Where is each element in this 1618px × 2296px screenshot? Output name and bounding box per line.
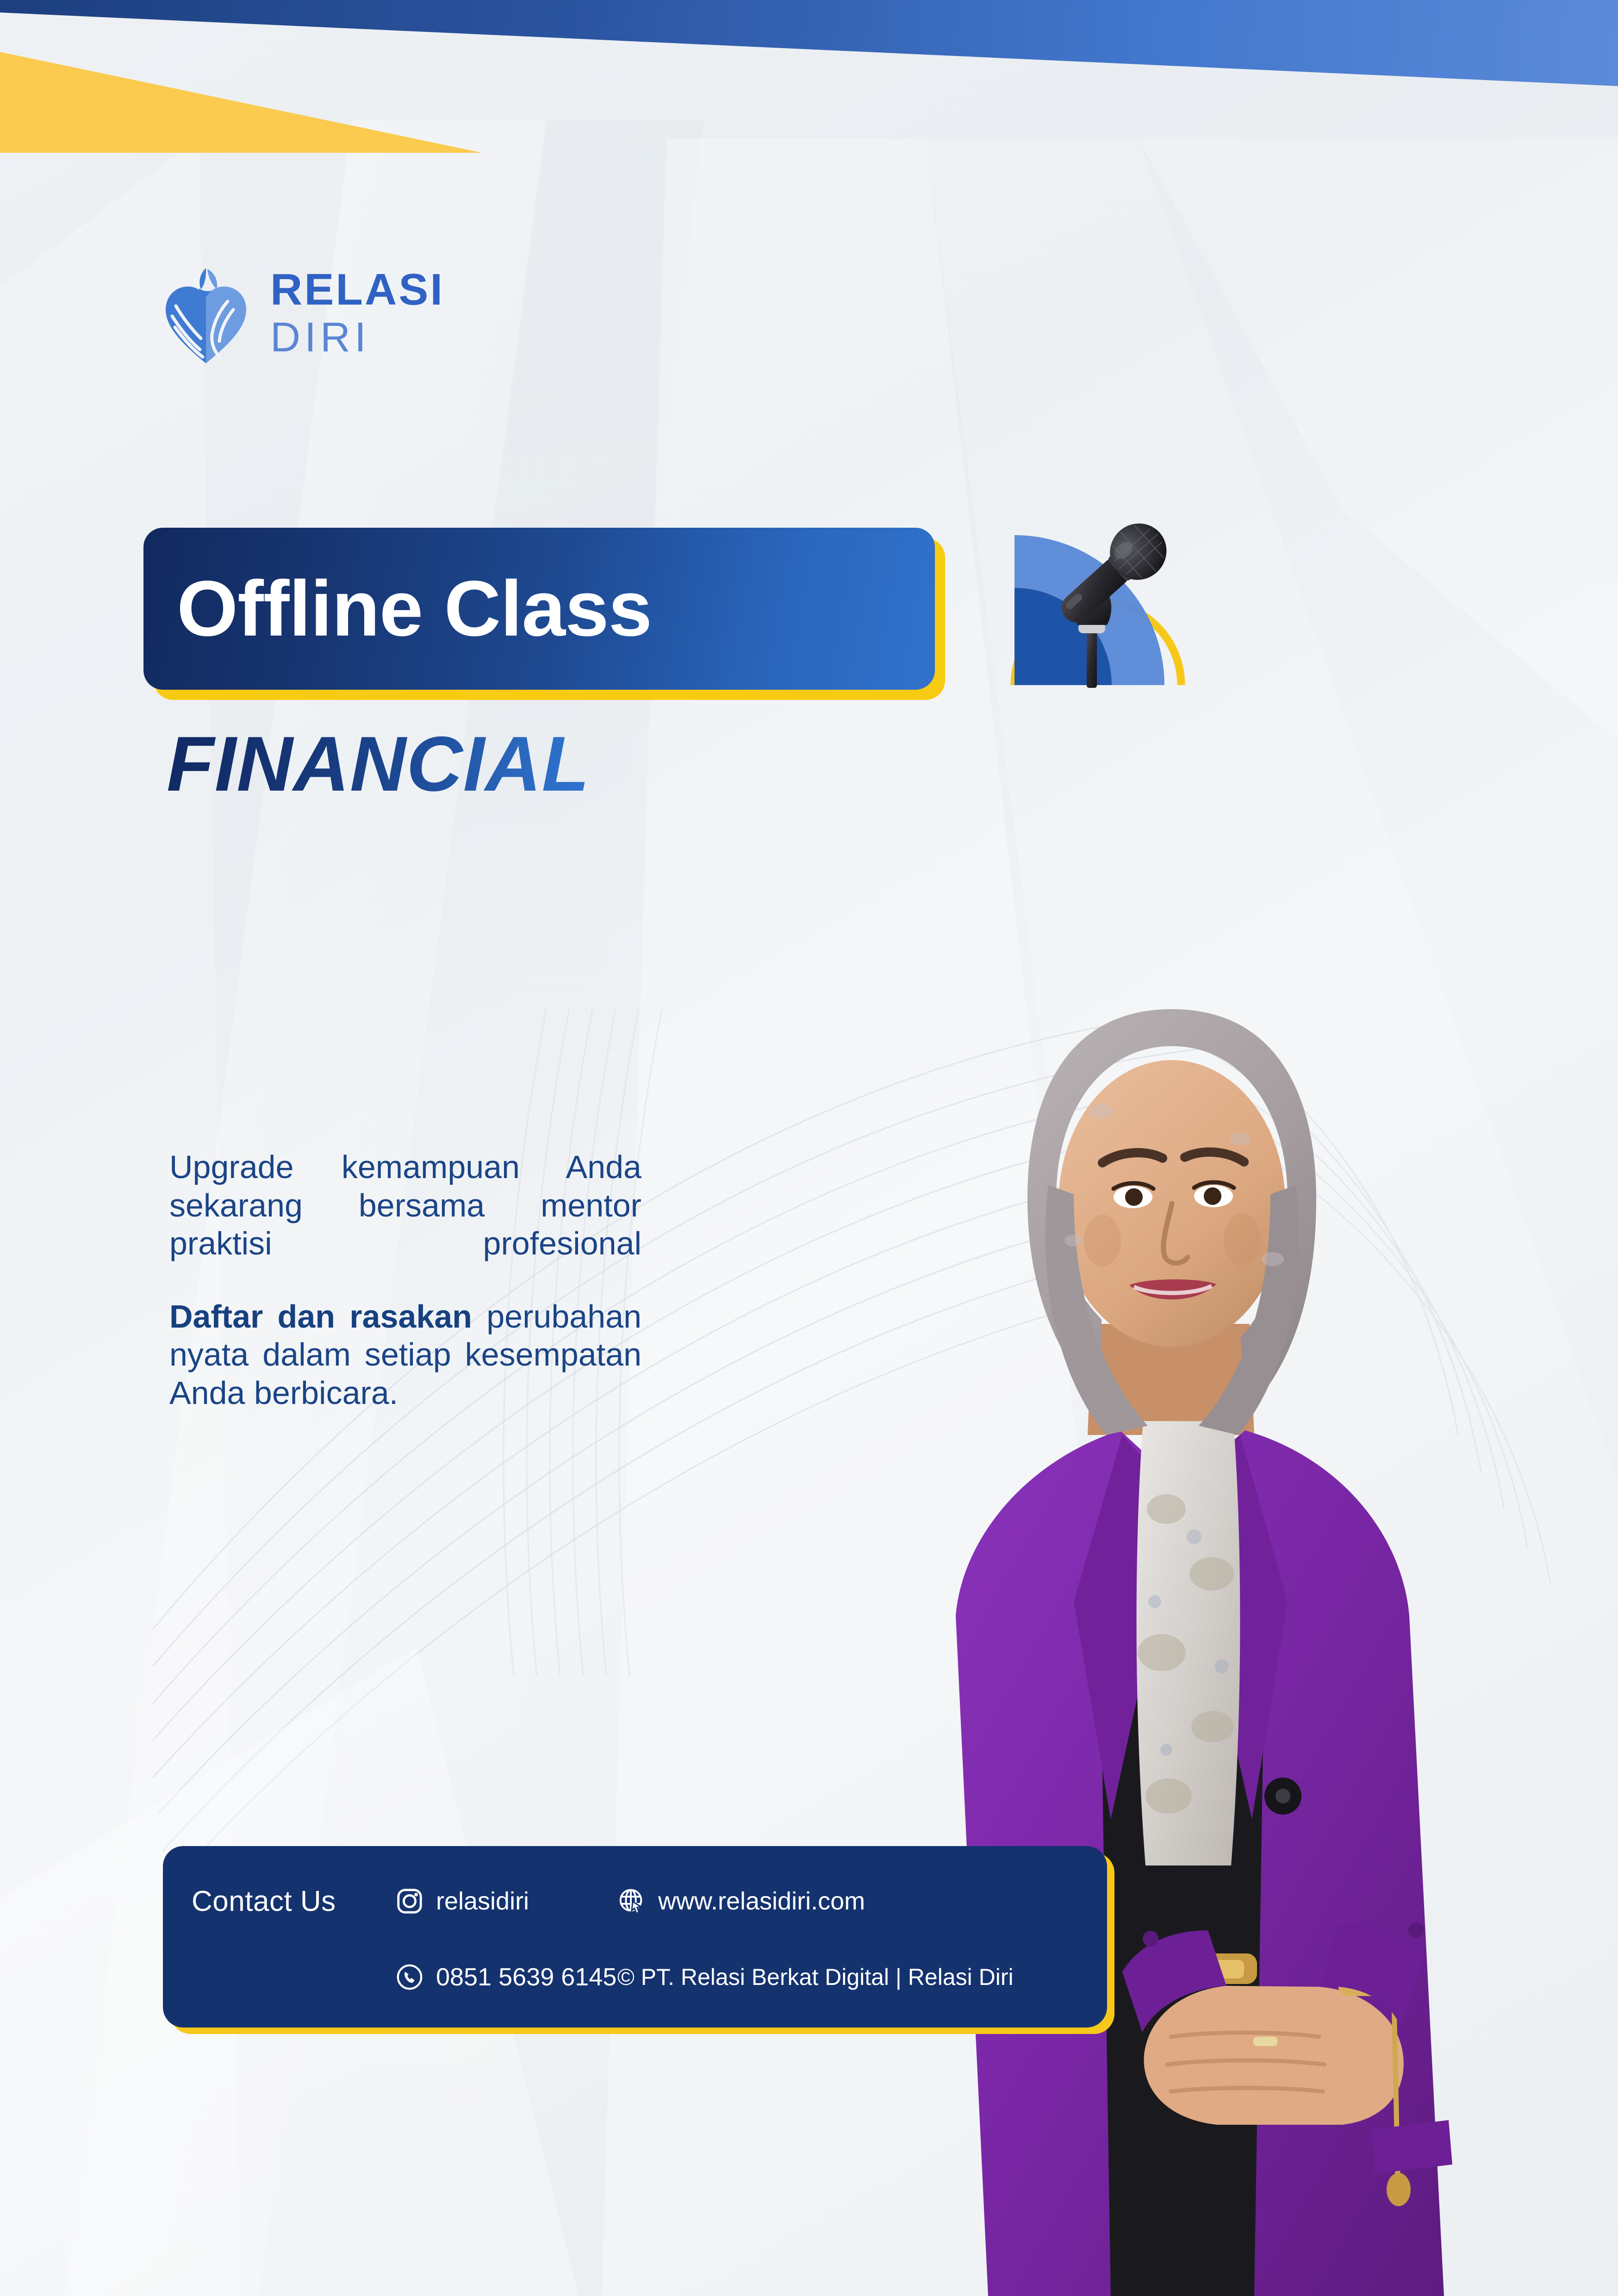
logo-mark-svg: [163, 262, 249, 364]
page-subtitle: FINANCIAL: [167, 722, 590, 806]
paragraph-two: Daftar dan rasakan perubahan nyata dalam…: [169, 1298, 641, 1412]
phone-circle-icon-svg: [395, 1963, 424, 1991]
website-url: www.relasidiri.com: [658, 1887, 865, 1915]
microphone-graphic-svg: [986, 491, 1203, 708]
portrait-illustration-svg: [703, 787, 1618, 2296]
globe-cursor-icon-svg: [617, 1887, 646, 1915]
contact-us-label: Contact Us: [192, 1885, 395, 1918]
brand-logo: RELASI DIRI: [163, 262, 444, 364]
instagram-icon-svg: [395, 1887, 424, 1915]
body-copy: Upgrade kemampuan Anda sekarang bersama …: [169, 1148, 641, 1412]
instagram-icon: [395, 1887, 424, 1915]
paragraph-two-bold: Daftar dan rasakan: [169, 1298, 472, 1335]
contact-instagram[interactable]: relasidiri: [395, 1887, 617, 1915]
microphone-on-stand-icon: [986, 491, 1203, 708]
contact-website[interactable]: www.relasidiri.com: [617, 1887, 1077, 1915]
footer-card: Contact Us relasidiri: [163, 1846, 1107, 2028]
banner-title: Offline Class: [177, 569, 652, 648]
globe-cursor-icon: [617, 1887, 646, 1915]
contact-footer: Contact Us relasidiri: [163, 1846, 1107, 2028]
phone-number: 0851 5639 6145: [436, 1963, 616, 1991]
mentor-portrait: [703, 787, 1618, 2296]
poster-canvas: RELASI DIRI Offline Class: [0, 0, 1618, 2296]
paragraph-one: Upgrade kemampuan Anda sekarang bersama …: [169, 1148, 641, 1263]
contact-phone[interactable]: 0851 5639 6145: [395, 1963, 617, 1991]
brand-wordmark: RELASI DIRI: [270, 268, 444, 358]
banner-card: Offline Class: [143, 528, 935, 690]
heart-hands-sprout-icon: [163, 262, 249, 364]
instagram-handle: relasidiri: [436, 1887, 529, 1915]
phone-circle-icon: [395, 1963, 424, 1991]
brand-name-line2: DIRI: [270, 317, 444, 358]
brand-name-line1: RELASI: [270, 268, 444, 312]
headline-banner: Offline Class: [143, 528, 935, 690]
copyright-text: © PT. Relasi Berkat Digital | Relasi Dir…: [617, 1964, 1077, 1990]
